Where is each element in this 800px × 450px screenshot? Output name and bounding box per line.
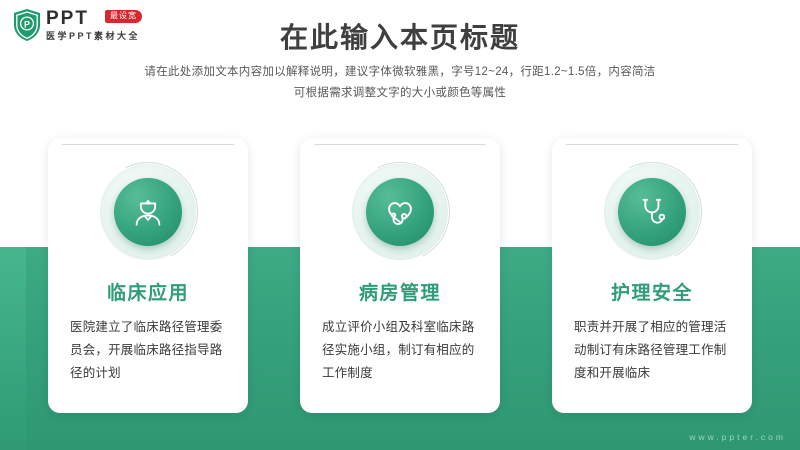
- card-body-text: 医院建立了临床路径管理委员会，开展临床路径指导路径的计划: [70, 316, 226, 385]
- subtitle-line-2: 可根据需求调整文字的大小或颜色等属性: [0, 83, 800, 104]
- slide-canvas: P PPT 最设宽 医学PPT素材大全 在此输入本页标题 请在此处添加文本内容加…: [0, 0, 800, 450]
- icon-ring: [100, 164, 196, 260]
- site-watermark: www.ppter.com: [689, 432, 786, 442]
- card-body-text: 职责并开展了相应的管理活动制订有床路径管理工作制度和开展临床: [574, 316, 730, 385]
- card-ward-management[interactable]: 病房管理 成立评价小组及科室临床路径实施小组，制订有相应的工作制度: [300, 138, 500, 413]
- card-body-text: 成立评价小组及科室临床路径实施小组，制订有相应的工作制度: [322, 316, 478, 385]
- icon-ring: [352, 164, 448, 260]
- card-nursing-safety[interactable]: 护理安全 职责并开展了相应的管理活动制订有床路径管理工作制度和开展临床: [552, 138, 752, 413]
- card-heading: 病房管理: [300, 278, 500, 305]
- doctor-icon: [114, 178, 182, 246]
- card-heading: 临床应用: [48, 278, 248, 305]
- card-divider: [566, 144, 738, 145]
- page-subtitle: 请在此处添加文本内容加以解释说明，建议字体微软雅黑，字号12~24，行距1.2~…: [0, 62, 800, 104]
- card-heading: 护理安全: [552, 278, 752, 305]
- card-clinical-application[interactable]: 临床应用 医院建立了临床路径管理委员会，开展临床路径指导路径的计划: [48, 138, 248, 413]
- card-divider: [62, 144, 234, 145]
- page-title: 在此输入本页标题: [0, 16, 800, 56]
- subtitle-line-1: 请在此处添加文本内容加以解释说明，建议字体微软雅黑，字号12~24，行距1.2~…: [0, 62, 800, 83]
- stethoscope-icon: [618, 178, 686, 246]
- icon-ring: [604, 164, 700, 260]
- heart-stethoscope-icon: [366, 178, 434, 246]
- card-divider: [314, 144, 486, 145]
